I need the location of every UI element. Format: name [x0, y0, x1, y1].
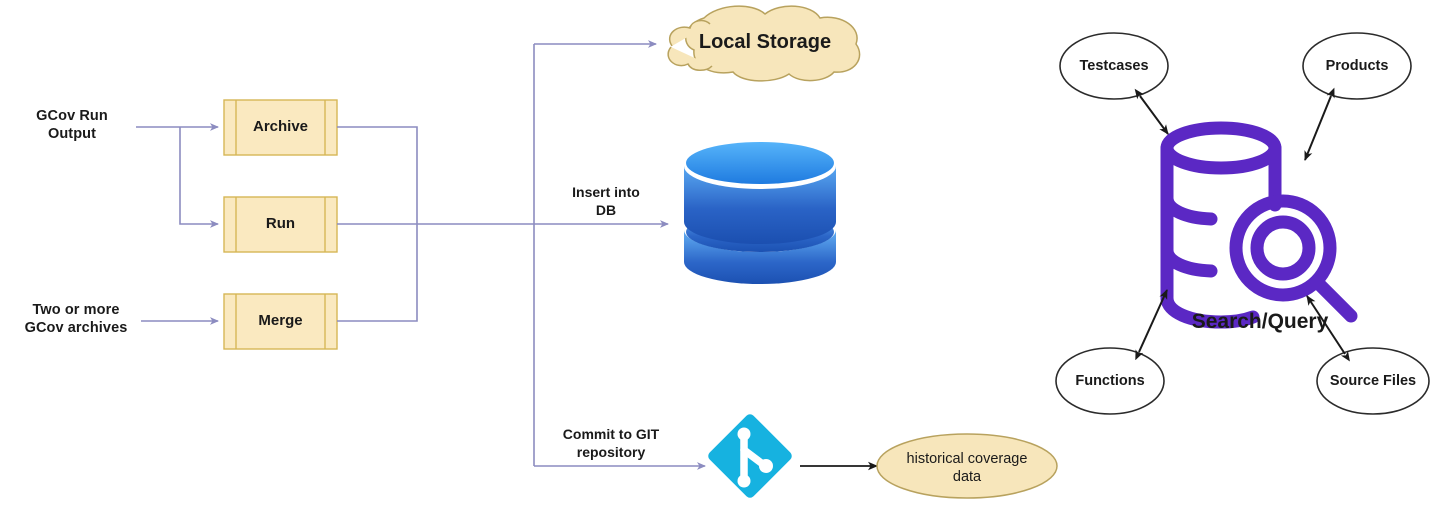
flow-edges-merge-trunk: [337, 127, 534, 321]
connector-testcases: [1140, 96, 1168, 134]
entity-ellipse-functions-shape[interactable]: [1056, 348, 1164, 414]
process-box-archive[interactable]: [224, 100, 337, 155]
diagram-vector-layer: [0, 0, 1430, 512]
flow-edges-inputs: [136, 127, 218, 321]
connector-products: [1305, 96, 1331, 160]
process-box-merge[interactable]: [224, 294, 337, 349]
entity-ellipse-source-files-shape[interactable]: [1317, 348, 1429, 414]
search-query-database-magnifier-icon[interactable]: [1167, 128, 1351, 322]
historical-coverage-data-ellipse-shape[interactable]: [877, 434, 1057, 498]
connector-functions: [1139, 290, 1167, 352]
flow-edges-trunk-outputs: [534, 44, 705, 466]
local-storage-cloud-shape[interactable]: [668, 6, 859, 81]
entity-ellipse-products-shape[interactable]: [1303, 33, 1411, 99]
process-box-run[interactable]: [224, 197, 337, 252]
entity-ellipse-testcases-shape[interactable]: [1060, 33, 1168, 99]
diagram-canvas: GCov Run Output Two or more GCov archive…: [0, 0, 1430, 512]
git-repository-icon[interactable]: [706, 412, 794, 500]
database-cylinder-icon[interactable]: [684, 142, 836, 284]
